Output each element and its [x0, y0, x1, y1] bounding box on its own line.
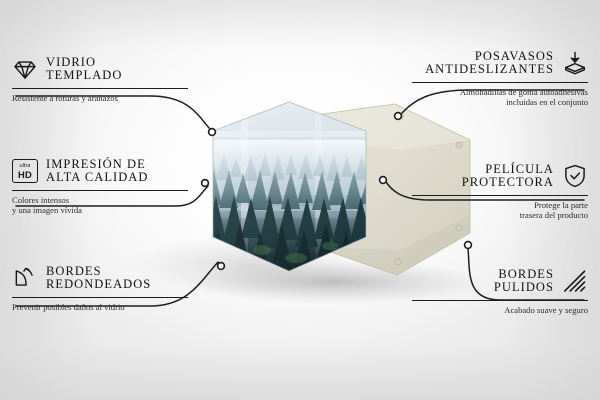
- feature-divider: [412, 300, 588, 301]
- feature-header: ultra HD IMPRESIÓN DE ALTA CALIDAD: [12, 158, 188, 185]
- feature-divider: [12, 190, 188, 191]
- feature-header: PELÍCULA PROTECTORA: [412, 163, 588, 190]
- connector-node-coasters: [395, 113, 402, 120]
- feature-title: POSAVASOS ANTIDESLIZANTES: [425, 50, 554, 77]
- feature-subtitle: Protege la parte trasera del producto: [412, 200, 588, 221]
- feature-polished-edges: BORDES PULIDOS Acabado suave y seguro: [412, 268, 588, 315]
- feature-divider: [412, 195, 588, 196]
- feature-divider: [412, 82, 588, 83]
- connector-node-polished-edges: [465, 242, 472, 249]
- feature-subtitle: Prevenir posibles daños al vidrio: [12, 302, 188, 312]
- connector-node-rounded-edges: [218, 263, 225, 270]
- press-down-pad-icon: [562, 50, 588, 76]
- feature-divider: [12, 88, 188, 89]
- feature-header: BORDES REDONDEADOS: [12, 265, 188, 292]
- connector-node-protective-film: [380, 177, 387, 184]
- feature-tempered-glass: VIDRIO TEMPLADO Resistente a roturas y a…: [12, 56, 188, 103]
- feature-header: POSAVASOS ANTIDESLIZANTES: [412, 50, 588, 77]
- diagonal-stripes-icon: [562, 268, 588, 294]
- feature-title: VIDRIO TEMPLADO: [46, 56, 122, 83]
- diamond-icon: [12, 56, 38, 82]
- feature-divider: [12, 297, 188, 298]
- connector-node-print-quality: [202, 180, 209, 187]
- ultra-hd-badge-icon: ultra HD: [12, 159, 38, 183]
- connector-node-tempered-glass: [209, 129, 216, 136]
- feature-subtitle: Acabado suave y seguro: [412, 305, 588, 315]
- feature-high-quality-print: ultra HD IMPRESIÓN DE ALTA CALIDAD Color…: [12, 158, 188, 216]
- feature-subtitle: Resistente a roturas y arañazos: [12, 93, 188, 103]
- product-feature-diagram: VIDRIO TEMPLADO Resistente a roturas y a…: [0, 0, 600, 400]
- ultra-hd-badge-main-text: HD: [18, 170, 32, 179]
- feature-title: PELÍCULA PROTECTORA: [462, 163, 554, 190]
- feature-protective-film: PELÍCULA PROTECTORA Protege la parte tra…: [412, 163, 588, 221]
- feature-subtitle: Colores intensos y una imagen vívida: [12, 195, 188, 216]
- feature-header: BORDES PULIDOS: [412, 268, 588, 295]
- shield-check-icon: [562, 163, 588, 189]
- feature-rounded-edges: BORDES REDONDEADOS Prevenir posibles dañ…: [12, 265, 188, 312]
- feature-title: IMPRESIÓN DE ALTA CALIDAD: [46, 158, 148, 185]
- feature-non-slip-coasters: POSAVASOS ANTIDESLIZANTES Almohadillas d…: [412, 50, 588, 108]
- feature-title: BORDES REDONDEADOS: [46, 265, 151, 292]
- feature-title: BORDES PULIDOS: [494, 268, 554, 295]
- feature-subtitle: Almohadillas de goma autoadhesivas inclu…: [412, 87, 588, 108]
- rounded-corner-arrow-icon: [12, 265, 38, 291]
- feature-header: VIDRIO TEMPLADO: [12, 56, 188, 83]
